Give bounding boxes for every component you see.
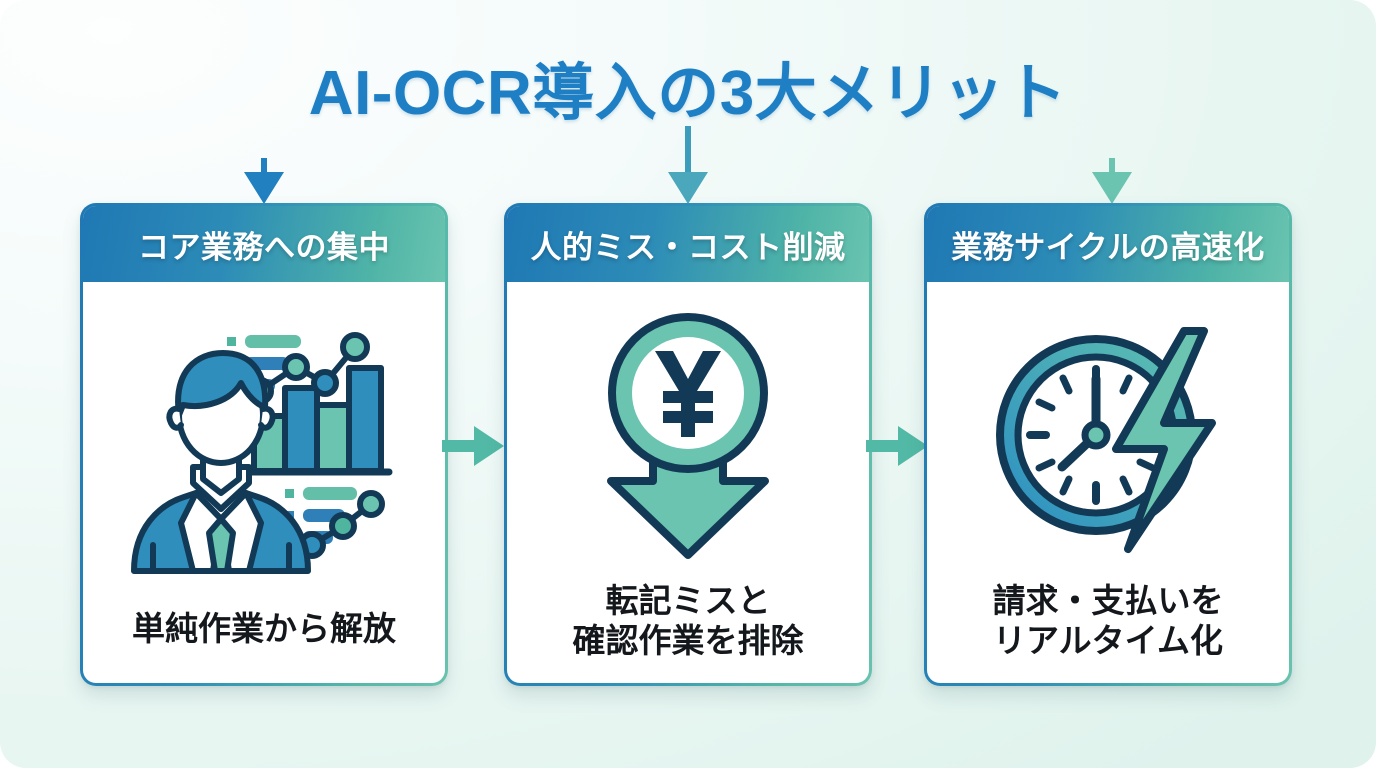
card-caption: 転記ミスと 確認作業を排除: [573, 581, 804, 684]
card-caption: 請求・支払いを リアルタイム化: [993, 581, 1224, 684]
card-header-title: 業務サイクルの高速化: [927, 206, 1289, 282]
down-arrow-right-icon: [1092, 172, 1132, 204]
right-arrow-between-card2-card3-icon: [866, 420, 930, 472]
caption-line: 単純作業から解放: [132, 609, 396, 649]
page-title: AI-OCR導入の3大メリット: [0, 42, 1376, 132]
down-arrow-center-icon: [668, 172, 708, 204]
down-arrow-left-icon: [244, 172, 284, 204]
icon-container: [83, 290, 445, 609]
infographic-canvas: AI-OCR導入の3大メリット コア業務への集中: [0, 0, 1376, 768]
caption-line: 確認作業を排除: [573, 621, 804, 661]
card-inner: 業務サイクルの高速化: [927, 206, 1289, 683]
benefit-card-cost-reduction[interactable]: 人的ミス・コスト削減: [504, 203, 872, 686]
caption-line: 転記ミスと: [573, 581, 804, 621]
benefit-card-core-business[interactable]: コア業務への集中: [80, 203, 448, 686]
caption-line: 請求・支払いを: [993, 581, 1224, 621]
icon-container: [507, 290, 869, 581]
card-inner: コア業務への集中: [83, 206, 445, 683]
card-inner: 人的ミス・コスト削減: [507, 206, 869, 683]
businessman-with-bar-chart-icon: [121, 323, 407, 575]
card-header-title: コア業務への集中: [83, 206, 445, 282]
clock-with-lightning-icon: [988, 311, 1228, 559]
caption-line: リアルタイム化: [993, 621, 1224, 661]
card-body: 請求・支払いを リアルタイム化: [927, 282, 1289, 683]
card-header-title: 人的ミス・コスト削減: [507, 206, 869, 282]
card-body: 転記ミスと 確認作業を排除: [507, 282, 869, 683]
right-arrow-between-card1-card2-icon: [442, 420, 506, 472]
benefit-card-speed-up[interactable]: 業務サイクルの高速化: [924, 203, 1292, 686]
icon-container: [927, 290, 1289, 581]
card-body: 単純作業から解放: [83, 282, 445, 683]
yen-down-arrow-icon: [583, 311, 793, 559]
card-caption: 単純作業から解放: [132, 609, 396, 683]
